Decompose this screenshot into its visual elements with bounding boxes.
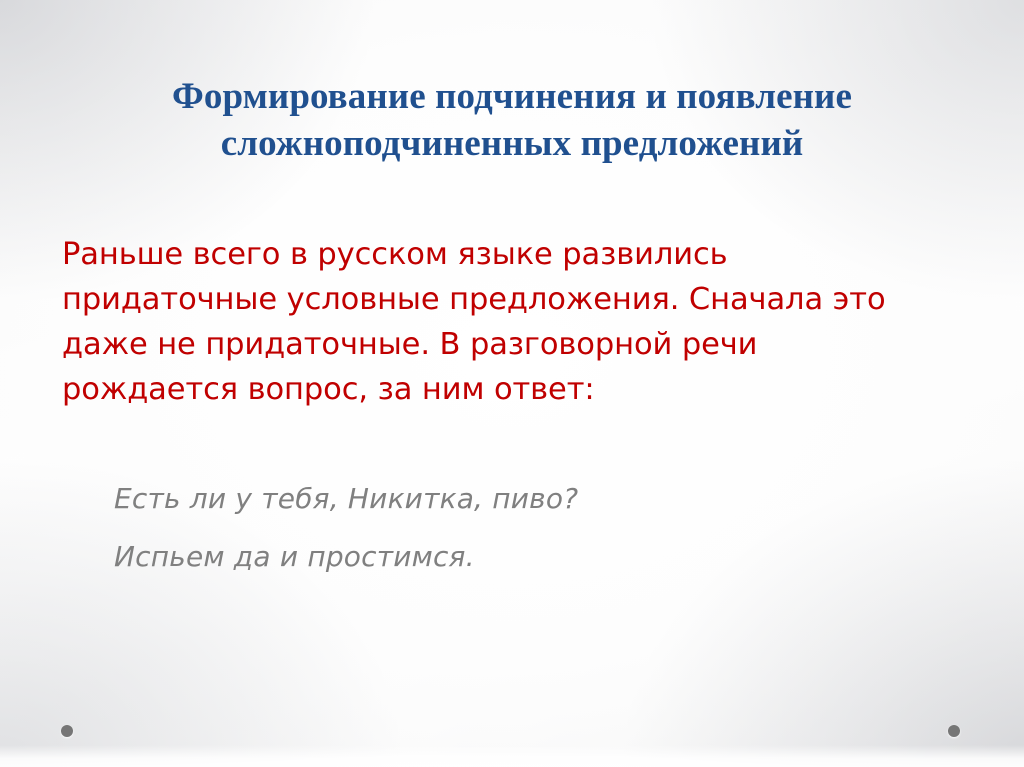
body-paragraph-line-4: рождается вопрос, за ним ответ: <box>62 367 942 412</box>
presentation-slide: Формирование подчинения и появление слож… <box>0 0 1024 767</box>
quotation-line-2: Испьем да и простимся. <box>114 528 874 586</box>
slide-content: Формирование подчинения и появление слож… <box>0 0 1024 767</box>
slide-title: Формирование подчинения и появление слож… <box>80 74 944 168</box>
body-paragraph-line-3: даже не придаточные. В разговорной речи <box>62 322 942 367</box>
slide-title-line-2: сложноподчиненных предложений <box>80 121 944 168</box>
quotation-line-1: Есть ли у тебя, Никитка, пиво? <box>114 470 874 528</box>
quotation-block: Есть ли у тебя, Никитка, пиво? Испьем да… <box>114 470 874 586</box>
body-paragraph-line-2: придаточные условные предложения. Сначал… <box>62 277 942 322</box>
slide-title-line-1: Формирование подчинения и появление <box>80 74 944 121</box>
body-paragraph-line-1: Раньше всего в русском языке развились <box>62 232 942 277</box>
body-paragraph: Раньше всего в русском языке развились п… <box>62 232 942 412</box>
decorative-dot-right-icon <box>948 725 960 737</box>
decorative-dot-left-icon <box>61 725 73 737</box>
